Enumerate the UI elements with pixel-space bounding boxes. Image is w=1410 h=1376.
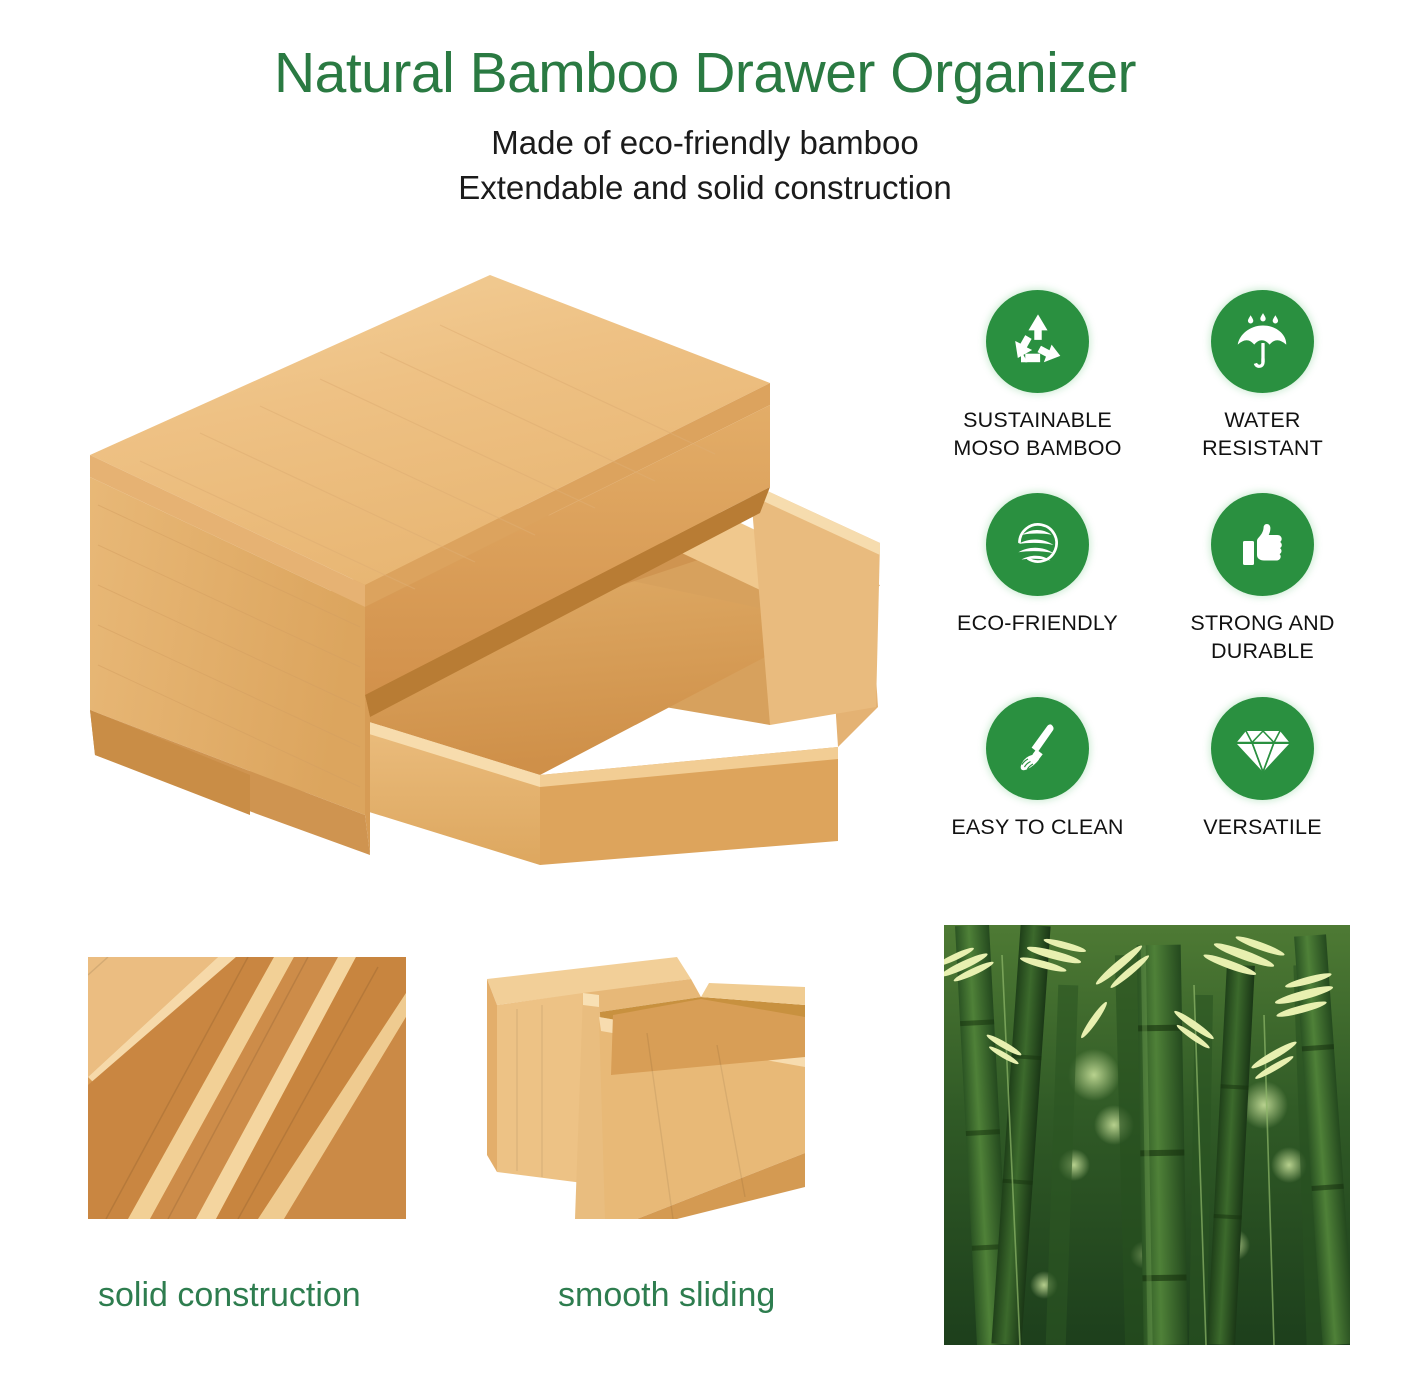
feature-item-sustainable: SUSTAINABLE MOSO BAMBOO <box>930 290 1145 493</box>
solid-construction-photo <box>88 957 406 1219</box>
product-illustration <box>70 255 890 915</box>
feature-badge <box>986 697 1089 800</box>
feature-label-line-1: SUSTAINABLE <box>963 408 1112 432</box>
feature-badge <box>1211 290 1314 393</box>
feature-label-line-2: MOSO BAMBOO <box>953 436 1121 460</box>
feature-item-eco-friendly: ECO-FRIENDLY <box>930 493 1145 696</box>
divider-closeup-illustration <box>88 957 406 1219</box>
infographic-page: Natural Bamboo Drawer Organizer Made of … <box>0 0 1410 1376</box>
feature-item-strong-durable: STRONG AND DURABLE <box>1155 493 1370 696</box>
subtitle-line-1: Made of eco-friendly bamboo <box>0 120 1410 166</box>
feature-label-line-1: ECO-FRIENDLY <box>957 611 1118 635</box>
subtitle-line-2: Extendable and solid construction <box>0 165 1410 211</box>
feature-label: SUSTAINABLE MOSO BAMBOO <box>953 407 1121 463</box>
bamboo-forest-photo <box>944 925 1350 1345</box>
feature-badge <box>1211 493 1314 596</box>
feature-label: WATER RESISTANT <box>1202 407 1323 463</box>
feature-label: VERSATILE <box>1203 814 1322 842</box>
feature-item-easy-to-clean: EASY TO CLEAN <box>930 697 1145 900</box>
feature-label: ECO-FRIENDLY <box>957 610 1118 638</box>
sliding-closeup-illustration <box>487 957 805 1219</box>
feature-label: EASY TO CLEAN <box>951 814 1123 842</box>
page-title: Natural Bamboo Drawer Organizer <box>0 44 1410 104</box>
recycle-icon <box>1004 308 1072 376</box>
feature-item-versatile: VERSATILE <box>1155 697 1370 900</box>
bamboo-forest-illustration <box>944 925 1350 1345</box>
feature-badge <box>986 493 1089 596</box>
product-hero-image <box>70 255 890 915</box>
feature-grid: SUSTAINABLE MOSO BAMBOO <box>930 290 1370 900</box>
feature-label-line-2: RESISTANT <box>1202 436 1323 460</box>
caption-smooth-sliding: smooth sliding <box>558 1278 775 1312</box>
feature-label-line-1: EASY TO CLEAN <box>951 815 1123 839</box>
thumbs-up-icon <box>1231 513 1295 577</box>
feature-badge <box>1211 697 1314 800</box>
smooth-sliding-photo <box>487 957 805 1219</box>
caption-solid-construction: solid construction <box>98 1278 361 1312</box>
feature-item-water-resistant: WATER RESISTANT <box>1155 290 1370 493</box>
subtitle-block: Made of eco-friendly bamboo Extendable a… <box>0 120 1410 211</box>
feature-label-line-1: WATER <box>1224 408 1300 432</box>
feature-label: STRONG AND DURABLE <box>1190 610 1334 666</box>
feature-badge <box>986 290 1089 393</box>
header: Natural Bamboo Drawer Organizer Made of … <box>0 0 1410 211</box>
leaf-wave-icon <box>1005 512 1071 578</box>
diamond-icon <box>1231 716 1295 780</box>
feature-label-line-1: STRONG AND <box>1190 611 1334 635</box>
feature-label-line-1: VERSATILE <box>1203 815 1322 839</box>
feature-label-line-2: DURABLE <box>1211 639 1314 663</box>
umbrella-rain-icon <box>1230 309 1296 375</box>
brush-icon <box>1006 716 1070 780</box>
